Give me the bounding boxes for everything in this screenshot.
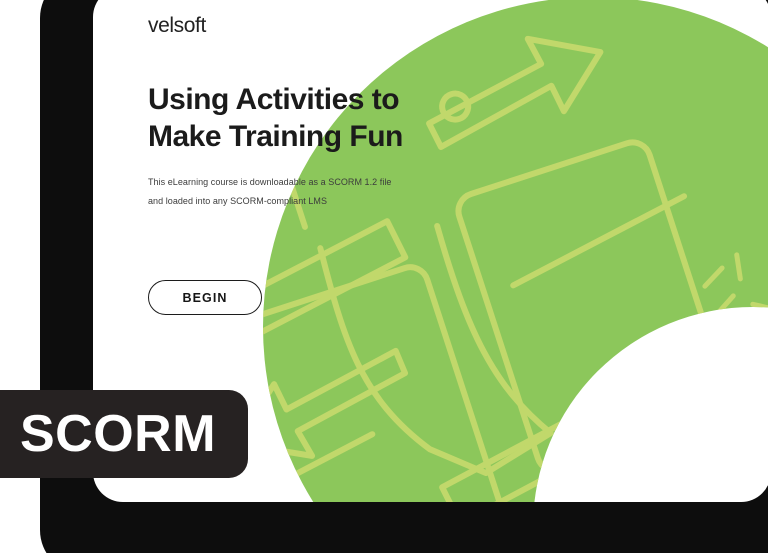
scorm-badge: SCORM: [0, 390, 248, 478]
card-content: velsoft Using Activities to Make Trainin…: [148, 15, 478, 210]
screenshot-stage: velsoft Using Activities to Make Trainin…: [0, 0, 768, 553]
scorm-badge-label: SCORM: [0, 408, 216, 460]
velsoft-logo: velsoft: [148, 15, 478, 36]
course-description: This eLearning course is downloadable as…: [148, 173, 478, 210]
begin-button[interactable]: BEGIN: [148, 280, 262, 315]
page-title: Using Activities to Make Training Fun: [148, 82, 478, 155]
